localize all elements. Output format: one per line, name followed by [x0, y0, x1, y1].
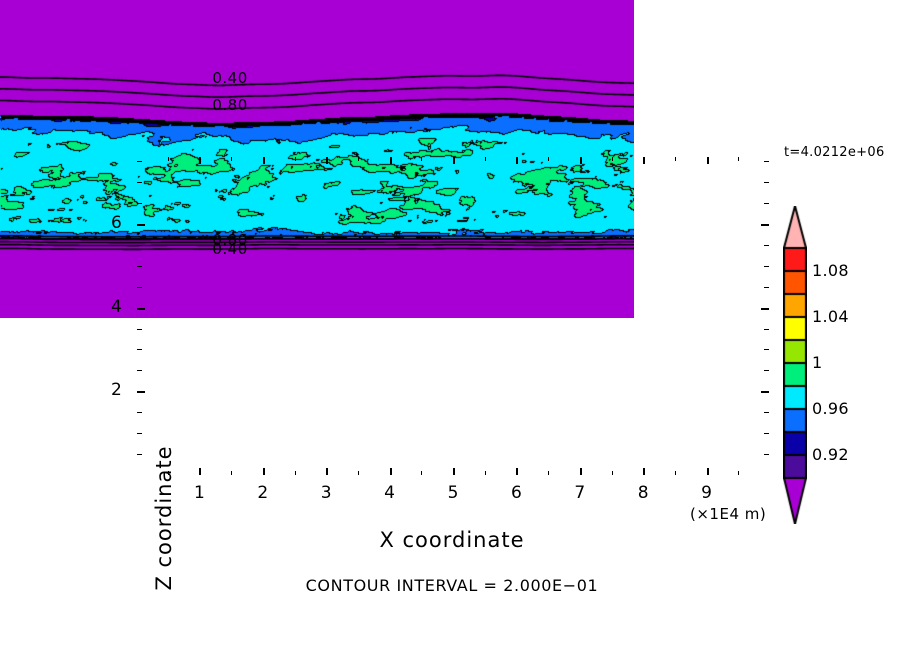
- colorbar-tick-label: 0.92: [812, 445, 849, 464]
- x-axis-title: X coordinate: [0, 528, 904, 552]
- colorbar-tick-label: 1.08: [812, 261, 849, 280]
- x-minor-tick-top: [548, 157, 549, 161]
- y-minor-tick-right: [764, 287, 769, 288]
- colorbar-gradient: [783, 206, 807, 524]
- x-minor-tick: [358, 471, 359, 475]
- y-minor-tick-right: [764, 161, 769, 162]
- contour-value-label: 0.80: [212, 96, 247, 114]
- x-minor-tick: [485, 471, 486, 475]
- y-minor-tick: [137, 266, 142, 267]
- y-minor-tick-right: [764, 182, 769, 183]
- y-minor-tick-right: [764, 245, 769, 246]
- y-minor-tick: [137, 203, 142, 204]
- colorbar-tick-label: 1.04: [812, 307, 849, 326]
- y-tick-mark-right: [761, 391, 769, 393]
- y-minor-tick: [137, 370, 142, 371]
- y-minor-tick-right: [764, 266, 769, 267]
- y-tick-mark: [137, 308, 145, 310]
- x-minor-tick-top: [738, 157, 739, 161]
- y-axis-title: Z coordinate: [152, 408, 176, 628]
- y-tick-mark: [137, 391, 145, 393]
- x-tick-mark: [453, 468, 455, 475]
- x-minor-tick-top: [485, 157, 486, 161]
- x-tick-mark: [580, 468, 582, 475]
- y-minor-tick-right: [764, 433, 769, 434]
- x-axis-unit-label: (×1E4 m): [690, 505, 766, 523]
- x-tick-label: 3: [306, 483, 346, 503]
- contour-value-label: 0.40: [212, 69, 247, 87]
- y-minor-tick: [137, 329, 142, 330]
- y-tick-label: 4: [111, 297, 122, 317]
- y-axis-title-wrap: Z coordinate: [60, 206, 90, 426]
- y-minor-tick-right: [764, 203, 769, 204]
- y-minor-tick: [137, 245, 142, 246]
- x-tick-mark-top: [707, 157, 709, 164]
- x-minor-tick: [168, 471, 169, 475]
- y-minor-tick: [137, 182, 142, 183]
- x-minor-tick-top: [168, 157, 169, 161]
- y-tick-mark-right: [761, 308, 769, 310]
- y-minor-tick: [137, 349, 142, 350]
- y-minor-tick: [137, 161, 142, 162]
- y-minor-tick: [137, 454, 142, 455]
- x-tick-mark: [263, 468, 265, 475]
- x-minor-tick: [421, 471, 422, 475]
- colorbar: [783, 206, 807, 524]
- x-tick-label: 6: [496, 483, 536, 503]
- x-tick-mark-top: [453, 157, 455, 164]
- x-minor-tick: [548, 471, 549, 475]
- x-tick-mark-top: [580, 157, 582, 164]
- x-tick-mark-top: [263, 157, 265, 164]
- y-minor-tick: [137, 287, 142, 288]
- y-minor-tick: [137, 433, 142, 434]
- x-tick-label: 8: [623, 483, 663, 503]
- y-tick-label: 2: [111, 380, 122, 400]
- colorbar-tick-label: 0.96: [812, 399, 849, 418]
- contour-value-label: 0.40: [212, 240, 247, 258]
- x-minor-tick: [612, 471, 613, 475]
- x-tick-mark: [643, 468, 645, 475]
- x-tick-mark: [516, 468, 518, 475]
- y-minor-tick-right: [764, 329, 769, 330]
- x-tick-mark-top: [326, 157, 328, 164]
- x-minor-tick-top: [295, 157, 296, 161]
- x-tick-mark-top: [516, 157, 518, 164]
- x-minor-tick: [738, 471, 739, 475]
- x-minor-tick: [231, 471, 232, 475]
- y-minor-tick: [137, 412, 142, 413]
- x-minor-tick-top: [612, 157, 613, 161]
- x-tick-label: 5: [433, 483, 473, 503]
- contour-interval-caption: CONTOUR INTERVAL = 2.000E−01: [0, 576, 904, 595]
- x-tick-mark: [390, 468, 392, 475]
- y-tick-mark: [137, 224, 145, 226]
- x-tick-mark: [707, 468, 709, 475]
- x-tick-mark-top: [643, 157, 645, 164]
- y-tick-label: 6: [111, 213, 122, 233]
- x-tick-mark: [199, 468, 201, 475]
- x-minor-tick: [295, 471, 296, 475]
- x-tick-mark-top: [199, 157, 201, 164]
- contour-plot-area: 0.400.800.800.40: [0, 0, 634, 318]
- y-minor-tick-right: [764, 454, 769, 455]
- contour-label-layer: 0.400.800.800.40: [0, 0, 634, 318]
- y-minor-tick-right: [764, 349, 769, 350]
- time-annotation: t=4.0212e+06: [784, 145, 885, 160]
- x-tick-mark: [326, 468, 328, 475]
- colorbar-tick-label: 1: [812, 353, 822, 372]
- y-minor-tick-right: [764, 412, 769, 413]
- x-minor-tick-top: [421, 157, 422, 161]
- x-minor-tick-top: [358, 157, 359, 161]
- x-tick-label: 1: [179, 483, 219, 503]
- x-tick-label: 9: [687, 483, 727, 503]
- y-minor-tick-right: [764, 370, 769, 371]
- x-tick-label: 4: [370, 483, 410, 503]
- y-tick-mark-right: [761, 224, 769, 226]
- x-tick-label: 7: [560, 483, 600, 503]
- x-tick-mark-top: [390, 157, 392, 164]
- x-minor-tick-top: [675, 157, 676, 161]
- x-minor-tick-top: [231, 157, 232, 161]
- x-tick-label: 2: [243, 483, 283, 503]
- x-minor-tick: [675, 471, 676, 475]
